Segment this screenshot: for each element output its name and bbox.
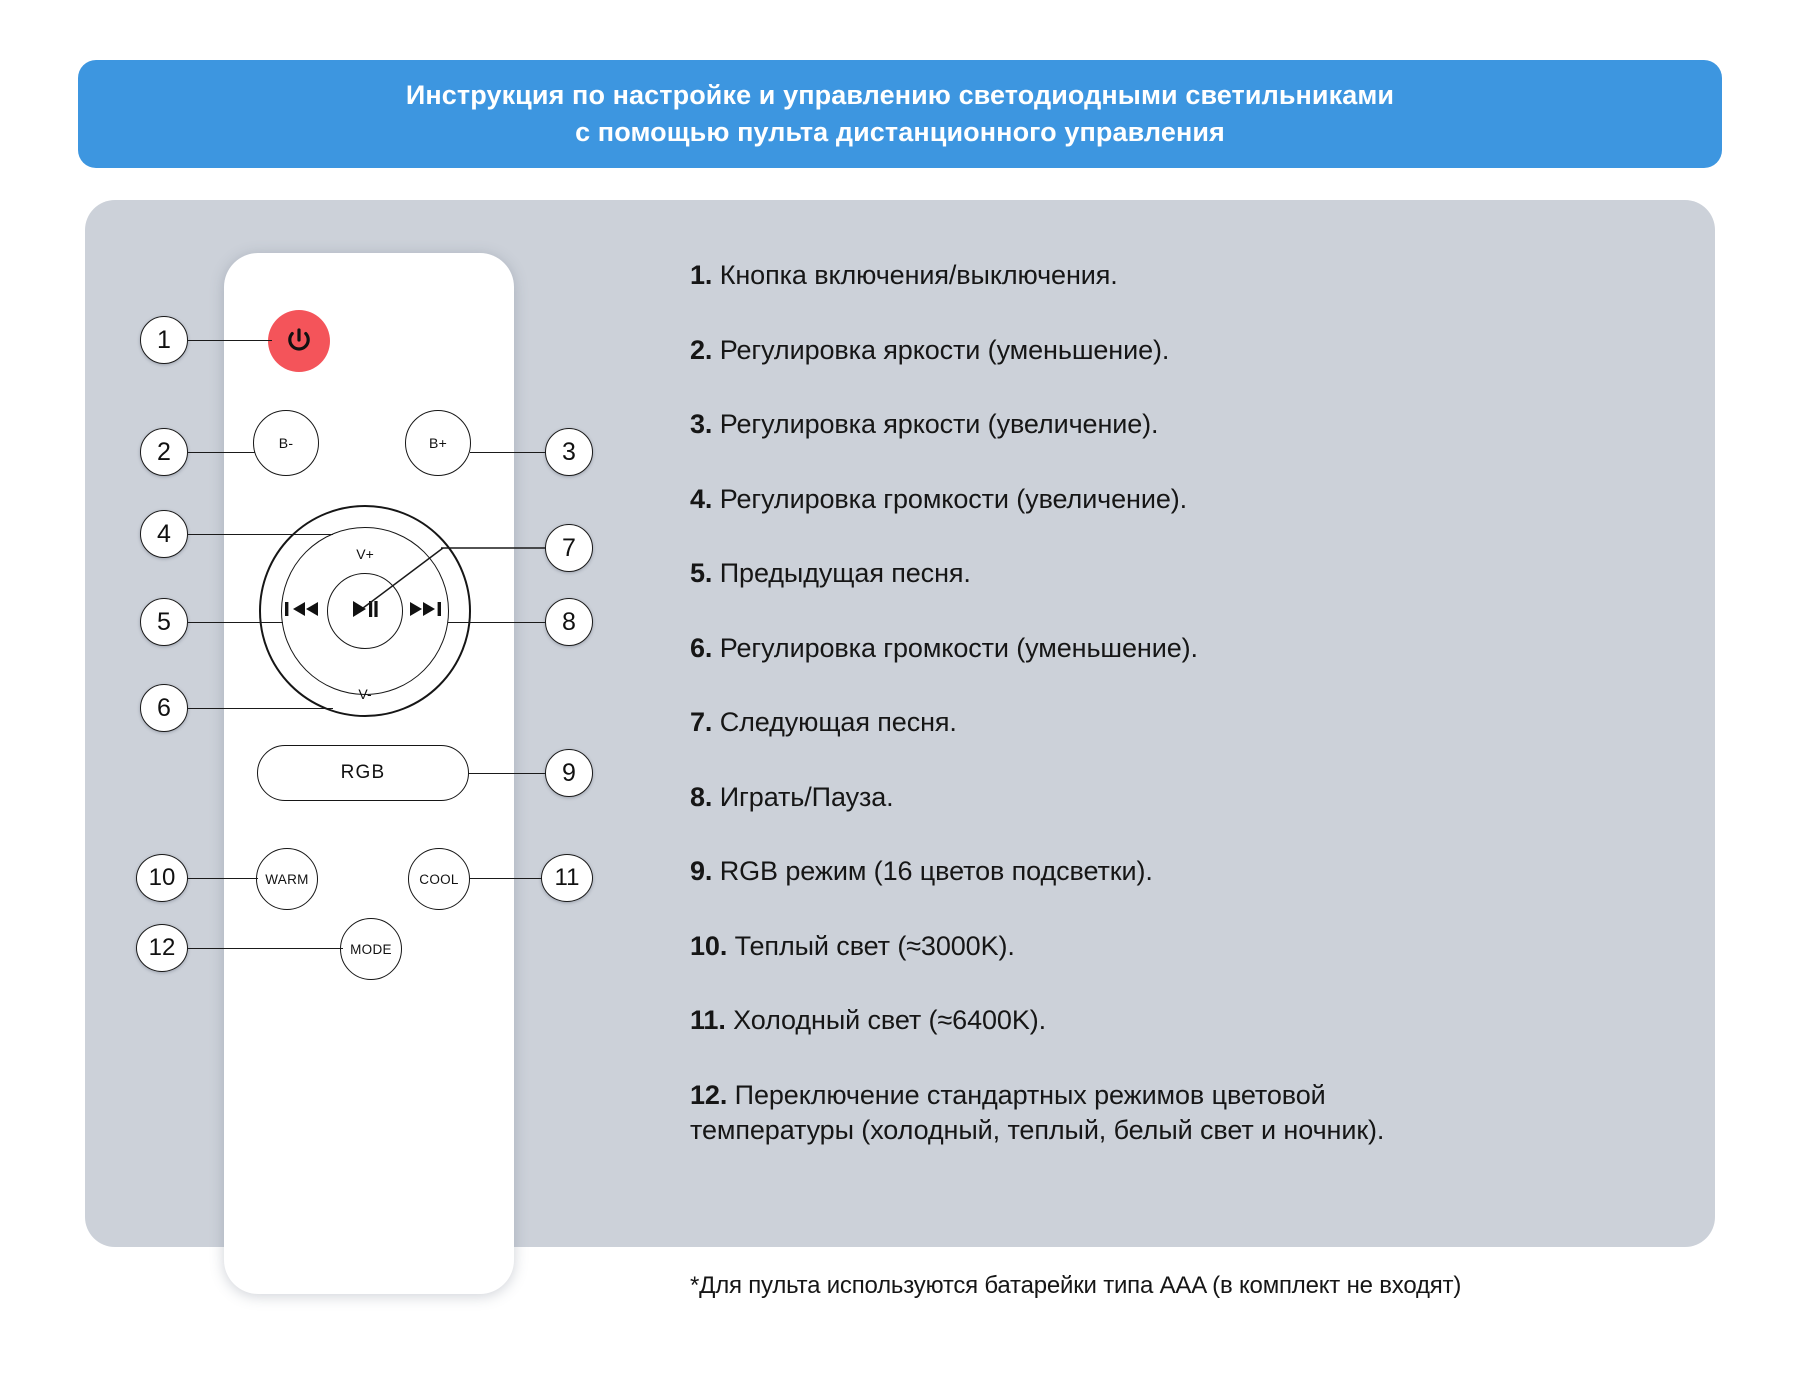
item-number: 1. (690, 260, 712, 290)
callout-11: 11 (541, 854, 593, 902)
list-item: 7. Следующая песня. (690, 705, 1390, 740)
mode-label: MODE (350, 942, 392, 957)
list-item: 4. Регулировка громкости (увеличение). (690, 482, 1390, 517)
rgb-label: RGB (341, 762, 386, 784)
mode-button[interactable]: MODE (340, 918, 402, 980)
item-number: 3. (690, 409, 712, 439)
callout-8: 8 (545, 598, 593, 646)
item-number: 2. (690, 335, 712, 365)
callout-2: 2 (140, 428, 188, 476)
item-number: 9. (690, 856, 712, 886)
item-text: Играть/Пауза. (720, 782, 894, 812)
volume-down-label[interactable]: V- (335, 686, 395, 702)
callout-6: 6 (140, 684, 188, 732)
callout-9: 9 (545, 749, 593, 797)
list-item: 11. Холодный свет (≈6400K). (690, 1003, 1390, 1038)
brightness-up-label: B+ (429, 435, 447, 451)
prev-track-icon (283, 599, 323, 624)
list-item: 3. Регулировка яркости (увеличение). (690, 407, 1390, 442)
item-text: Регулировка яркости (увеличение). (720, 409, 1159, 439)
item-number: 10. (690, 931, 727, 961)
warm-button[interactable]: WARM (256, 848, 318, 910)
power-button[interactable] (268, 310, 330, 372)
callout-7: 7 (545, 524, 593, 572)
brightness-down-button[interactable]: B- (253, 410, 319, 476)
header-banner: Инструкция по настройке и управлению све… (78, 60, 1722, 168)
callout-5: 5 (140, 598, 188, 646)
list-item: 10. Теплый свет (≈3000K). (690, 929, 1390, 964)
callout-4: 4 (140, 510, 188, 558)
leader-line-1 (188, 340, 272, 341)
item-text: Переключение стандартных режимов цветово… (690, 1080, 1384, 1145)
item-number: 11. (690, 1005, 726, 1035)
list-item: 2. Регулировка яркости (уменьшение). (690, 333, 1390, 368)
cool-button[interactable]: COOL (408, 848, 470, 910)
page-title: Инструкция по настройке и управлению све… (366, 77, 1434, 152)
instruction-list: 1. Кнопка включения/выключения. 2. Регул… (690, 258, 1390, 1147)
item-text: Регулировка громкости (уменьшение). (720, 633, 1198, 663)
list-item: 5. Предыдущая песня. (690, 556, 1390, 591)
item-number: 8. (690, 782, 712, 812)
leader-line-4 (188, 534, 333, 535)
previous-track-button[interactable] (281, 598, 325, 624)
item-text: Кнопка включения/выключения. (720, 260, 1118, 290)
leader-line-12 (188, 948, 343, 949)
list-item: 12. Переключение стандартных режимов цве… (690, 1078, 1390, 1147)
item-text: Теплый свет (≈3000K). (735, 931, 1015, 961)
item-text: Предыдущая песня. (720, 558, 971, 588)
leader-line-6 (188, 708, 333, 709)
list-item: 1. Кнопка включения/выключения. (690, 258, 1390, 293)
warm-label: WARM (265, 872, 308, 887)
item-number: 7. (690, 707, 712, 737)
item-number: 4. (690, 484, 712, 514)
leader-line-2 (188, 452, 255, 453)
item-text: Регулировка яркости (уменьшение). (720, 335, 1170, 365)
leader-line-3 (470, 452, 546, 453)
item-text: Холодный свет (≈6400K). (733, 1005, 1046, 1035)
footnote: *Для пульта используются батарейки типа … (690, 1272, 1461, 1300)
brightness-up-button[interactable]: B+ (405, 410, 471, 476)
callout-3: 3 (545, 428, 593, 476)
item-number: 5. (690, 558, 712, 588)
list-item: 9. RGB режим (16 цветов подсветки). (690, 854, 1390, 889)
item-text: Следующая песня. (720, 707, 957, 737)
item-text: Регулировка громкости (увеличение). (720, 484, 1187, 514)
leader-line-5 (188, 622, 283, 623)
item-number: 12. (690, 1080, 727, 1110)
list-item: 6. Регулировка громкости (уменьшение). (690, 631, 1390, 666)
list-item: 8. Играть/Пауза. (690, 780, 1390, 815)
cool-label: COOL (419, 872, 458, 887)
callout-1: 1 (140, 316, 188, 364)
callout-10: 10 (136, 854, 188, 902)
power-icon (283, 325, 315, 357)
leader-line-7 (355, 520, 555, 630)
callout-12: 12 (136, 924, 188, 972)
item-text: RGB режим (16 цветов подсветки). (720, 856, 1153, 886)
item-number: 6. (690, 633, 712, 663)
brightness-down-label: B- (279, 435, 294, 451)
leader-line-9 (468, 773, 546, 774)
rgb-button[interactable]: RGB (257, 745, 469, 801)
leader-line-10 (188, 878, 258, 879)
leader-line-11 (469, 878, 542, 879)
